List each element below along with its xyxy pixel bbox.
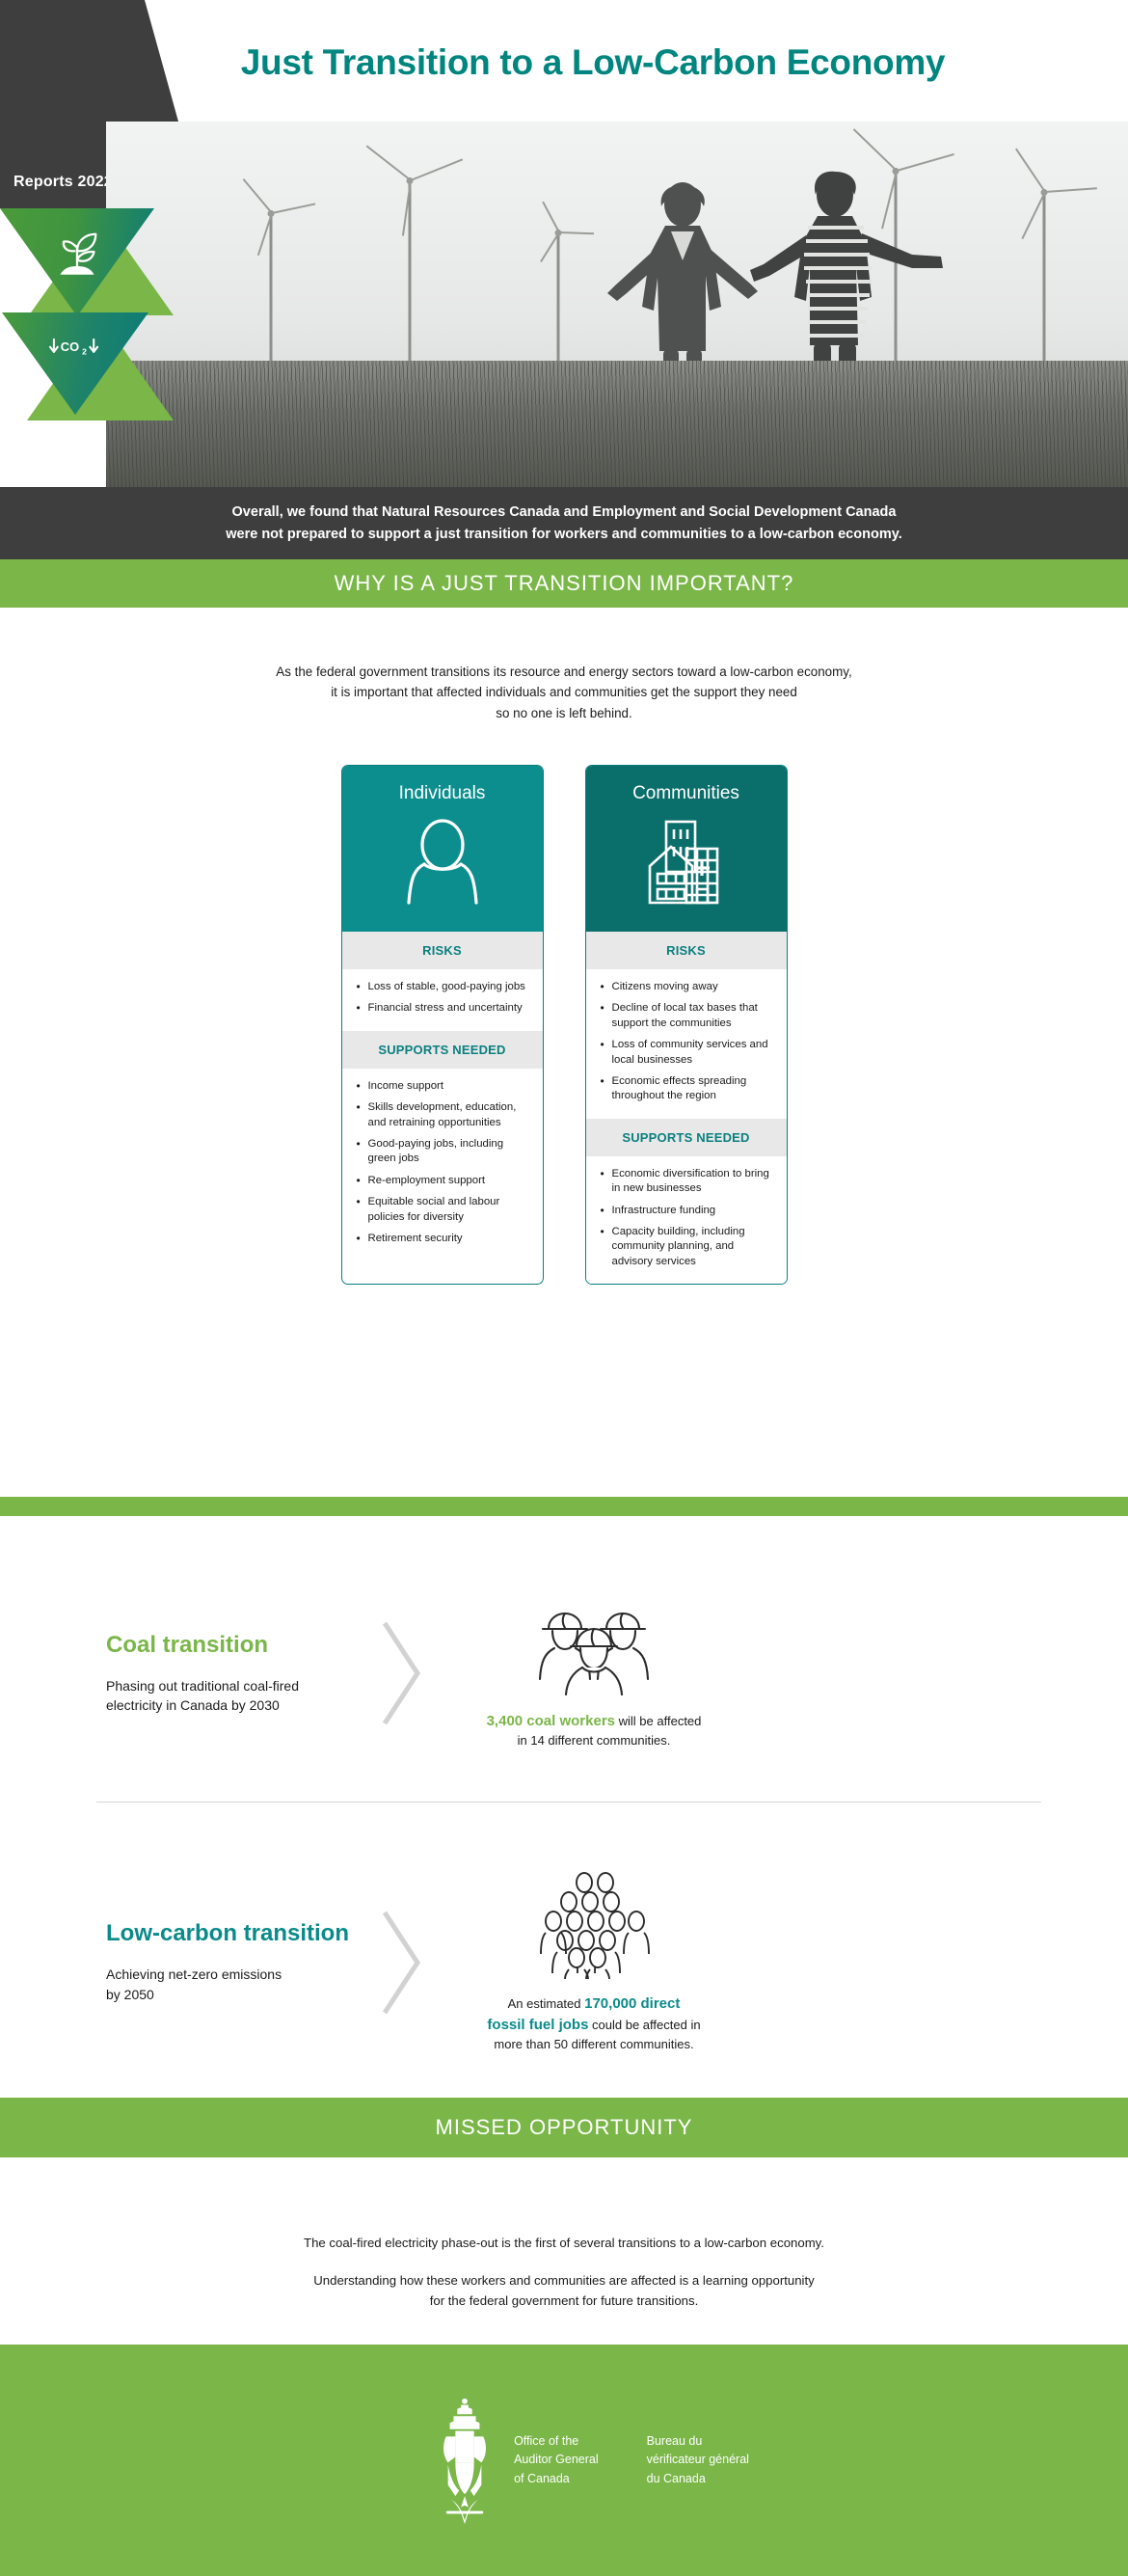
missed-opportunity-banner: MISSED OPPORTUNITY (0, 2098, 1128, 2157)
lowcarbon-stat-highlight2: fossil fuel jobs (487, 2017, 588, 2033)
hero-image-windfarm-children (106, 122, 1128, 488)
overall-finding-banner: Overall, we found that Natural Resources… (0, 487, 1128, 559)
missed-opportunity-title: MISSED OPPORTUNITY (436, 2115, 693, 2140)
coal-transition-sub: Phasing out traditional coal-fired elect… (106, 1676, 352, 1716)
list-item: Loss of community services and local bus… (600, 1038, 775, 1068)
list-item: Decline of local tax bases that support … (600, 1001, 775, 1031)
card-individuals-title: Individuals (348, 783, 537, 804)
wind-turbine-icon (384, 177, 436, 372)
coal-transition-block: Coal transition Phasing out traditional … (0, 1596, 1128, 1750)
why-intro-text: As the federal government transitions it… (0, 662, 1128, 723)
svg-text:CO: CO (61, 339, 79, 354)
overall-finding-text: Overall, we found that Natural Resources… (226, 502, 901, 545)
triangle-logo-stack: CO 2 (0, 208, 212, 488)
overall-finding-line2: were not prepared to support a just tran… (226, 527, 901, 542)
risk-support-cards: Individuals RISKS Loss of stable, good-p… (0, 765, 1128, 1285)
coal-stat-highlight: 3,400 coal workers (487, 1713, 615, 1729)
why-intro-line2: it is important that affected individual… (331, 685, 797, 699)
page-title: Just Transition to a Low-Carbon Economy (0, 42, 1128, 83)
footer: Office of the Auditor General of Canada … (0, 2345, 1128, 2576)
card-individuals-risks-label: RISKS (342, 932, 543, 969)
list-item: Financial stress and uncertainty (356, 1001, 531, 1016)
plant-sprout-icon (50, 226, 104, 280)
wind-turbine-icon (251, 210, 291, 372)
list-item: Skills development, education, and retra… (356, 1100, 531, 1130)
lowcarbon-stat-rest1: could be affected in (588, 2018, 700, 2032)
footer-en-line1: Office of the (514, 2432, 599, 2451)
svg-text:2: 2 (82, 346, 87, 356)
crowd-of-people-icon (530, 1871, 658, 1979)
list-item: Equitable social and labour policies for… (356, 1195, 531, 1225)
card-individuals-risks-list: Loss of stable, good-paying jobs Financi… (342, 969, 543, 1031)
lowcarbon-stat-text: An estimated 170,000 direct fossil fuel … (435, 1993, 753, 2053)
footer-fr-line3: du Canada (647, 2470, 749, 2488)
canada-coat-of-arms-icon (437, 2396, 493, 2526)
why-section-title: WHY IS A JUST TRANSITION IMPORTANT? (335, 571, 794, 596)
coal-sub-line2: electricity in Canada by 2030 (106, 1697, 280, 1713)
footer-english-text: Office of the Auditor General of Canada (514, 2432, 599, 2488)
footer-fr-line1: Bureau du (647, 2432, 749, 2451)
coal-sub-line1: Phasing out traditional coal-fired (106, 1678, 299, 1694)
why-intro-line3: so no one is left behind. (496, 706, 631, 720)
section-divider-thin (96, 1802, 1041, 1803)
list-item: Loss of stable, good-paying jobs (356, 980, 531, 994)
infographic-page: Reports 2022 Just Transition to a Low-Ca… (0, 0, 1128, 2576)
card-individuals-header: Individuals (342, 766, 543, 932)
list-item: Economic diversification to bring in new… (600, 1167, 775, 1197)
list-item: Citizens moving away (600, 980, 775, 994)
footer-en-line2: Auditor General (514, 2451, 599, 2469)
missed-para-2: Understanding how these workers and comm… (0, 2270, 1128, 2311)
city-buildings-icon (642, 818, 731, 907)
card-individuals: Individuals RISKS Loss of stable, good-p… (341, 765, 544, 1285)
overall-finding-line1: Overall, we found that Natural Resources… (232, 504, 897, 520)
coal-stat-rest2: in 14 different communities. (518, 1733, 671, 1748)
report-badge-label: Reports 2022 (13, 174, 113, 191)
list-item: Retirement security (356, 1232, 531, 1246)
lowcarbon-transition-text: Low-carbon transition Achieving net-zero… (106, 1920, 352, 2004)
footer-en-line3: of Canada (514, 2470, 599, 2488)
card-communities-title: Communities (592, 783, 781, 804)
missed-para-2-line2: for the federal government for future tr… (430, 2293, 699, 2308)
missed-para-1: The coal-fired electricity phase-out is … (0, 2233, 1128, 2253)
coal-stat-text: 3,400 coal workers will be affected in 1… (435, 1711, 753, 1750)
card-communities-supports-label: SUPPORTS NEEDED (586, 1119, 787, 1156)
hero-ground-grass (106, 361, 1128, 488)
list-item: Infrastructure funding (600, 1204, 775, 1218)
lowcarbon-transition-sub: Achieving net-zero emissions by 2050 (106, 1965, 352, 2004)
lowcarbon-stat-rest2: more than 50 different communities. (494, 2037, 693, 2051)
list-item: Income support (356, 1079, 531, 1094)
wind-turbine-icon (542, 230, 575, 374)
three-workers-hardhat-icon (537, 1596, 651, 1696)
lowcarbon-transition-block: Low-carbon transition Achieving net-zero… (0, 1871, 1128, 2053)
lowcarbon-stat-prefix: An estimated (508, 1996, 585, 2011)
list-item: Re-employment support (356, 1174, 531, 1188)
missed-para-2-line1: Understanding how these workers and comm… (313, 2273, 815, 2288)
lowcarbon-sub-line1: Achieving net-zero emissions (106, 1966, 282, 1982)
why-intro-line1: As the federal government transitions it… (276, 664, 851, 679)
card-communities-header: Communities (586, 766, 787, 932)
card-individuals-supports-label: SUPPORTS NEEDED (342, 1031, 543, 1069)
lowcarbon-stat-highlight: 170,000 direct (584, 1995, 680, 2012)
footer-fr-line2: vérificateur général (647, 2451, 749, 2469)
coal-transition-text: Coal transition Phasing out traditional … (106, 1632, 352, 1716)
lowcarbon-sub-line2: by 2050 (106, 1987, 154, 2002)
list-item: Economic effects spreading throughout th… (600, 1074, 775, 1104)
coal-transition-heading: Coal transition (106, 1632, 352, 1659)
card-communities-supports-list: Economic diversification to bring in new… (586, 1156, 787, 1284)
card-communities: Communities (585, 765, 788, 1285)
section-divider-green (0, 1497, 1128, 1516)
coal-transition-stat: 3,400 coal workers will be affected in 1… (435, 1596, 753, 1750)
chevron-right-icon (379, 1905, 423, 2020)
card-communities-risks-label: RISKS (586, 932, 787, 969)
coal-stat-rest1: will be affected (615, 1714, 701, 1728)
card-communities-risks-list: Citizens moving away Decline of local ta… (586, 969, 787, 1119)
chevron-right-icon (379, 1615, 423, 1731)
lowcarbon-transition-heading: Low-carbon transition (106, 1920, 352, 1947)
wind-turbine-icon (1020, 189, 1068, 376)
co2-reduction-icon: CO 2 (47, 328, 107, 374)
footer-french-text: Bureau du vérificateur général du Canada (647, 2432, 749, 2488)
list-item: Capacity building, including community p… (600, 1225, 775, 1269)
person-icon (401, 818, 484, 907)
list-item: Good-paying jobs, including green jobs (356, 1137, 531, 1167)
why-section-banner: WHY IS A JUST TRANSITION IMPORTANT? (0, 559, 1128, 608)
lowcarbon-transition-stat: An estimated 170,000 direct fossil fuel … (435, 1871, 753, 2053)
card-individuals-supports-list: Income support Skills development, educa… (342, 1069, 543, 1261)
